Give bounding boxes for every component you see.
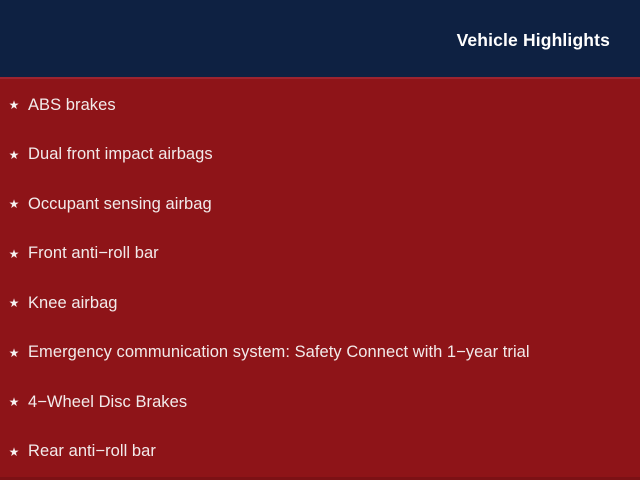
star-icon: ★ [4, 396, 24, 408]
list-item: ★4−Wheel Disc Brakes [0, 389, 640, 415]
star-icon: ★ [4, 198, 24, 210]
list-item-label: Occupant sensing airbag [28, 196, 212, 213]
list-item-label: Rear anti−roll bar [28, 443, 156, 460]
list-item-label: Dual front impact airbags [28, 146, 213, 163]
list-item-label: Emergency communication system: Safety C… [28, 344, 530, 361]
list-item: ★Knee airbag [0, 290, 640, 316]
star-icon: ★ [4, 446, 24, 458]
page-title: Vehicle Highlights [457, 32, 610, 50]
list-item: ★ABS brakes [0, 92, 640, 118]
list-item-label: 4−Wheel Disc Brakes [28, 394, 187, 411]
star-icon: ★ [4, 99, 24, 111]
list-item: ★Rear anti−roll bar [0, 439, 640, 465]
star-icon: ★ [4, 297, 24, 309]
star-icon: ★ [4, 248, 24, 260]
list-item: ★Emergency communication system: Safety … [0, 340, 640, 366]
list-item-label: ABS brakes [28, 97, 116, 114]
list-item: ★Dual front impact airbags [0, 142, 640, 168]
vehicle-highlights-list: ★ABS brakes★Dual front impact airbags★Oc… [0, 79, 640, 477]
vehicle-highlights-screen: Vehicle Highlights ★ABS brakes★Dual fron… [0, 0, 640, 480]
list-item-label: Front anti−roll bar [28, 245, 159, 262]
list-item: ★Front anti−roll bar [0, 241, 640, 267]
star-icon: ★ [4, 347, 24, 359]
page-header: Vehicle Highlights [0, 0, 640, 77]
star-icon: ★ [4, 149, 24, 161]
list-item: ★Occupant sensing airbag [0, 191, 640, 217]
list-item-label: Knee airbag [28, 295, 118, 312]
